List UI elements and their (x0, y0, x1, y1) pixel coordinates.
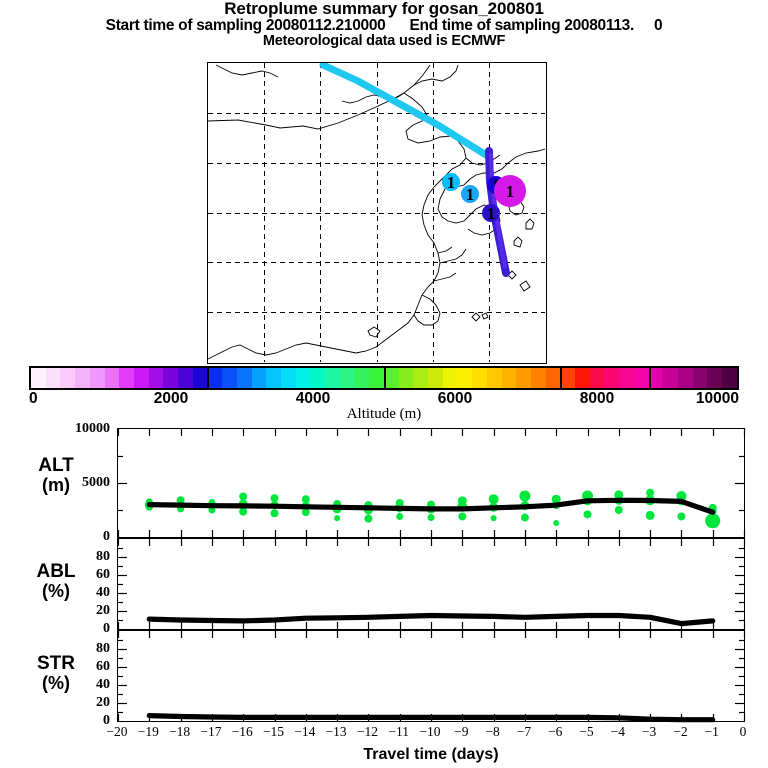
colorbar-swatch (354, 368, 369, 388)
abl-plot (118, 539, 744, 629)
alt-scatter-point (396, 513, 403, 520)
colorbar-swatch (149, 368, 164, 388)
str-y-tick-label: 60 (96, 659, 110, 675)
map-cluster-label: 1 (487, 204, 496, 223)
x-tick-label: 0 (740, 724, 747, 740)
alt-scatter-point (458, 512, 466, 520)
x-tick-label: −17 (200, 724, 221, 740)
alt-y-axis-labels: 0500010000 (0, 428, 110, 538)
colorbar-swatch (560, 368, 575, 388)
colorbar-swatch (384, 368, 399, 388)
x-axis-tick-labels: −20−19−18−17−16−15−14−13−12−11−10−9−8−7−… (117, 724, 745, 744)
colorbar-swatch (663, 368, 678, 388)
colorbar-swatch (163, 368, 178, 388)
colorbar-swatch (207, 368, 222, 388)
inbound-trajectory (323, 65, 486, 155)
retroplume-map[interactable]: 11111 (207, 62, 547, 364)
alt-scatter-point (521, 514, 529, 522)
x-tick-label: −3 (642, 724, 656, 740)
alt-panel[interactable] (117, 428, 745, 538)
abl-y-axis-labels: 020406080 (0, 538, 110, 630)
x-tick-label: −9 (454, 724, 468, 740)
x-tick-label: −11 (388, 724, 409, 740)
alt-scatter-point (677, 512, 685, 520)
colorbar-swatch (296, 368, 311, 388)
altitude-colorbar[interactable] (29, 366, 739, 390)
str-line (149, 716, 712, 720)
x-tick-label: −2 (673, 724, 687, 740)
colorbar-swatch (310, 368, 325, 388)
colorbar-swatch (75, 368, 90, 388)
x-tick-label: −18 (169, 724, 190, 740)
alt-scatter-point (271, 494, 279, 502)
title-block: Retroplume summary for gosan_200801 Star… (0, 0, 768, 49)
colorbar-swatch (60, 368, 75, 388)
str-y-tick-label: 80 (96, 641, 110, 657)
map-cluster-label: 1 (447, 173, 456, 192)
colorbar-swatch (340, 368, 355, 388)
colorbar-swatch (707, 368, 722, 388)
colorbar-swatch (634, 368, 649, 388)
colorbar-swatch (31, 368, 46, 388)
alt-scatter-point (334, 515, 340, 521)
colorbar-swatch (46, 368, 61, 388)
colorbar-swatch (546, 368, 561, 388)
altitude-colorbar-block: 0200040006000800010000 (0, 366, 768, 410)
colorbar-swatch (428, 368, 443, 388)
colorbar-swatch (252, 368, 267, 388)
alt-scatter-point (584, 510, 592, 518)
page-title: Retroplume summary for gosan_200801 (0, 0, 768, 18)
alt-scatter-point (615, 506, 623, 514)
map-marker-group[interactable]: 11111 (442, 173, 526, 223)
colorbar-swatch (105, 368, 120, 388)
colorbar-swatch (590, 368, 605, 388)
x-tick-label: −8 (485, 724, 499, 740)
colorbar-swatch (193, 368, 208, 388)
colorbar-swatch (281, 368, 296, 388)
x-tick-label: −5 (579, 724, 593, 740)
alt-scatter-point (491, 515, 497, 521)
map-trajectories (323, 65, 506, 273)
alt-plot (118, 429, 744, 537)
colorbar-swatch (90, 368, 105, 388)
str-panel[interactable] (117, 630, 745, 722)
alt-scatter-point (239, 508, 247, 516)
abl-y-tick-label: 60 (96, 567, 110, 583)
alt-scatter-point (428, 514, 435, 521)
colorbar-swatch (604, 368, 619, 388)
colorbar-swatch (134, 368, 149, 388)
alt-scatter-point (489, 494, 499, 504)
colorbar-swatch (649, 368, 664, 388)
map-cluster-label: 1 (506, 182, 515, 201)
x-tick-label: −1 (705, 724, 719, 740)
x-tick-label: −15 (263, 724, 284, 740)
colorbar-swatch (178, 368, 193, 388)
alt-scatter-point (646, 511, 655, 520)
alt-scatter-point (364, 515, 372, 523)
colorbar-swatch (487, 368, 502, 388)
x-tick-label: −19 (138, 724, 159, 740)
sampling-time-subtitle: Start time of sampling 20080112.210000 E… (0, 18, 768, 34)
colorbar-swatch (693, 368, 708, 388)
colorbar-swatch (119, 368, 134, 388)
abl-y-tick-label: 40 (96, 585, 110, 601)
x-tick-label: −6 (548, 724, 562, 740)
str-plot (118, 631, 744, 721)
alt-scatter-point (519, 490, 530, 501)
colorbar-swatch (399, 368, 414, 388)
colorbar-swatch (222, 368, 237, 388)
colorbar-swatch (516, 368, 531, 388)
meteorological-data-line: Meteorological data used is ECMWF (0, 34, 768, 49)
colorbar-swatch (502, 368, 517, 388)
map-svg: 11111 (208, 63, 545, 362)
x-tick-label: −7 (517, 724, 531, 740)
alt-y-tick-label: 5000 (82, 475, 110, 491)
colorbar-swatch (413, 368, 428, 388)
alt-scatter-point (239, 493, 247, 501)
colorbar-swatch (575, 368, 590, 388)
timeseries-stack: ALT (m) ABL (%) STR (%) 0500010000 02040… (0, 428, 768, 728)
colorbar-swatch (325, 368, 340, 388)
map-cluster-label: 1 (466, 185, 475, 204)
colorbar-swatch (443, 368, 458, 388)
x-tick-label: −13 (326, 724, 347, 740)
colorbar-swatch (369, 368, 384, 388)
colorbar-swatch (531, 368, 546, 388)
str-y-tick-label: 40 (96, 677, 110, 693)
colorbar-swatch (722, 368, 737, 388)
abl-panel[interactable] (117, 538, 745, 630)
alt-scatter-point (705, 513, 720, 528)
x-tick-label: −4 (611, 724, 625, 740)
x-tick-label: −14 (294, 724, 315, 740)
alt-y-tick-label: 10000 (75, 421, 110, 437)
colorbar-axis-label: Altitude (m) (0, 406, 768, 423)
x-tick-label: −16 (232, 724, 253, 740)
colorbar-swatch (457, 368, 472, 388)
colorbar-swatch (237, 368, 252, 388)
colorbar-swatch (678, 368, 693, 388)
str-y-axis-labels: 020406080 (0, 630, 110, 722)
colorbar-swatch (619, 368, 634, 388)
abl-y-tick-label: 20 (96, 603, 110, 619)
x-tick-label: −12 (357, 724, 378, 740)
x-axis-label: Travel time (days) (117, 746, 745, 764)
abl-y-tick-label: 80 (96, 549, 110, 565)
x-tick-label: −20 (106, 724, 127, 740)
str-y-tick-label: 20 (96, 695, 110, 711)
colorbar-swatch (472, 368, 487, 388)
colorbar-swatch (266, 368, 281, 388)
x-tick-label: −10 (419, 724, 440, 740)
alt-scatter-point (553, 520, 559, 526)
alt-scatter-point (271, 509, 279, 517)
